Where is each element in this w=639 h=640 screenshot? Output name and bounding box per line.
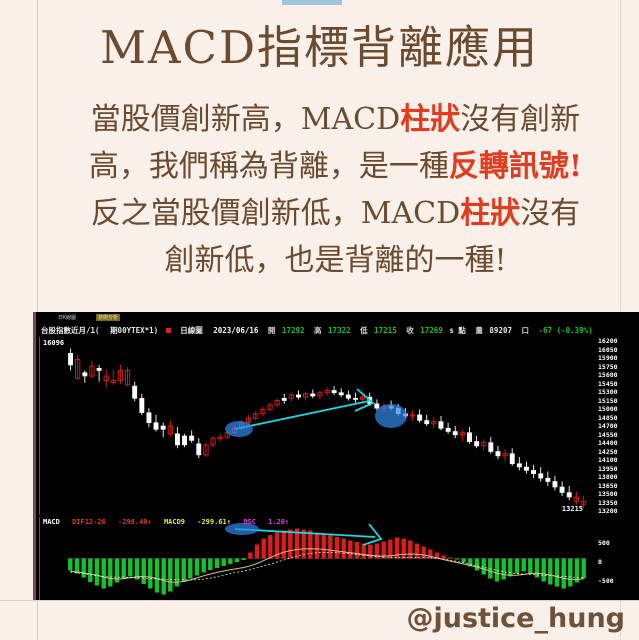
price-candlestick-pane: 16096 13215 [39,337,591,515]
status-dot-icon [166,328,171,333]
macd-dif-value: -298.40↑ [110,518,152,526]
price-axis-tick: 14400 [598,439,618,447]
price-axis-tick: 13950 [598,465,618,473]
macd-axis-tick: 500 [598,539,610,547]
footer-divider [0,600,639,601]
instrument-name: 台股指數近月/1( [36,324,100,337]
high-label: 高 [309,324,322,337]
close-label: 收 [401,324,414,337]
price-axis-tick: 13200 [598,507,618,515]
quote-header-bar: 台股指數近月/1( 期00YTEX*1) 日線圖 2023/06/16 開 17… [36,324,639,337]
macd-header: MACD DIF12-26 -298.40↑ MACD9 -299.61↑ OS… [39,517,289,528]
price-axis-tick: 15150 [598,397,618,405]
price-axis-tick: 13800 [598,473,618,481]
close-suffix: s 點 [447,324,466,337]
price-axis-tick: 13650 [598,482,618,490]
price-axis-tick: 15450 [598,380,618,388]
price-axis-tick: 15000 [598,405,618,413]
chart-titlebar-right-label: 技術分析 [96,314,120,321]
high-value: 17322 [326,324,351,337]
body-paragraph: 當股價創新高，MACD柱狀沒有創新高，我們稱為背離，是一種反轉訊號!反之當股價創… [44,96,627,284]
macd-axis-tick: -500 [598,577,614,585]
trading-chart-screenshot: 日K線圖 技術分析 台股指數近月/1( 期00YTEX*1) 日線圖 2023/… [33,312,639,600]
period-label: 日線圖 [178,324,203,337]
price-axis-tick: 15300 [598,388,618,396]
plain-text: 創新低，也是背離的一種! [164,243,506,278]
macd-indicator-pane: MACD DIF12-26 -298.40↑ MACD9 -299.61↑ OS… [39,517,591,600]
volume-value: 89207 [487,324,512,337]
body-line-4: 創新低，也是背離的一種! [44,237,627,284]
volume-unit: 口 [517,324,530,337]
macd-signal-label: MACD9 [156,518,185,526]
price-axis-tick: 15600 [598,371,618,379]
macd-dif-label: DIF12-26 [64,518,106,526]
price-axis-tick: 16200 [598,337,618,345]
chart-titlebar-left-label: 日K線圖 [58,314,76,321]
body-line-1: 當股價創新高，MACD柱狀沒有創新 [44,96,627,143]
price-axis-labels: 1620016050159001575015600154501530015150… [592,337,639,515]
macd-osc-label: OSC [235,518,256,526]
price-axis-tick: 14250 [598,448,618,456]
low-value: 17215 [372,324,397,337]
low-label: 低 [355,324,368,337]
macd-axis-tick: 0 [598,558,602,566]
price-axis-tick: 13350 [598,499,618,507]
close-value: 17269 [418,324,443,337]
price-axis-tick: 13500 [598,490,618,498]
price-axis-tick: 16050 [598,346,618,354]
top-accent-tab [282,0,342,5]
open-value: 17292 [280,324,305,337]
page-title: MACD指標背離應用 [0,11,639,76]
macd-signal-value: -299.61↑ [189,518,231,526]
body-line-3: 反之當股價創新低，MACD柱狀沒有 [44,190,627,237]
macd-axis-labels: 5000-500 [592,517,639,600]
change-value: -67 (-0.39%) [534,324,593,337]
chart-titlebar: 日K線圖 技術分析 [36,312,639,324]
price-axis-tick: 14100 [598,456,618,464]
plain-text: 沒有創新 [460,102,580,137]
candlestick-plot [39,337,591,515]
body-line-2: 高，我們稱為背離，是一種反轉訊號! [44,143,627,190]
macd-histogram-plot [39,517,591,600]
plain-text: 當股價創新高，MACD [91,102,400,137]
price-axis-tick: 15900 [598,354,618,362]
macd-title: MACD [43,518,60,526]
emphasis-text: 柱狀 [460,196,520,231]
emphasis-text: 柱狀 [400,102,460,137]
author-watermark: @justice_hung [406,603,625,634]
plain-text: 高，我們稱為背離，是一種 [89,149,449,184]
price-axis-tick: 14700 [598,422,618,430]
macd-osc-value: 1.20↑ [260,518,289,526]
open-label: 開 [263,324,276,337]
volume-label: 量 [470,324,483,337]
price-axis-tick: 14550 [598,431,618,439]
price-axis-tick: 15750 [598,363,618,371]
instrument-code: 期00YTEX*1) [104,324,158,337]
price-axis-tick: 14850 [598,414,618,422]
plain-text: 沒有 [520,196,580,231]
emphasis-text: 反轉訊號! [449,149,582,184]
plain-text: 反之當股價創新低，MACD [91,196,460,231]
quote-date: 2023/06/16 [207,324,258,337]
